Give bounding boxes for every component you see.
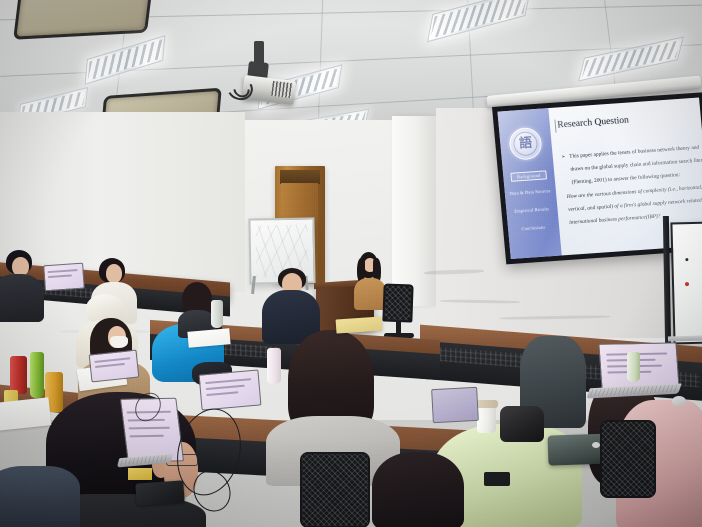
green-soda-bottle[interactable] [30, 352, 44, 398]
laptop-screen-left-row[interactable] [89, 350, 140, 383]
coffee-cup[interactable] [477, 406, 496, 433]
water-bottle[interactable] [267, 348, 281, 384]
coffee-cup-lid [475, 400, 498, 408]
slide-body-line: vertical, and spatial) of a firm's globa… [568, 197, 702, 213]
slide-nav-item-background[interactable]: Background [511, 170, 547, 181]
face-mask [110, 336, 128, 348]
wall-whiteboard [670, 222, 702, 345]
classroom-photo: 語 Background Data & Data Sources Empiric… [0, 0, 702, 527]
case-button-icon [592, 442, 600, 448]
person-student-left-front [0, 466, 80, 527]
jacket-logo-patch [484, 472, 510, 486]
emblem-glyph: 語 [519, 137, 533, 151]
laptop-screen-mid[interactable] [199, 369, 262, 410]
chair-mid [300, 452, 370, 527]
chair-right-front [600, 420, 656, 498]
student-head [106, 264, 122, 283]
projector-vent [271, 81, 293, 98]
university-emblem-icon: 語 [508, 127, 543, 161]
presenter-coat [354, 278, 386, 310]
smartphone[interactable] [135, 480, 184, 505]
person-student-dark-right-front [372, 452, 464, 527]
slide-body-line: How are the various dimensions of comple… [567, 185, 702, 200]
slide-title: Research Question [557, 116, 629, 131]
office-chair [382, 283, 413, 322]
door-header-shadow [280, 170, 320, 184]
whiteboard-marker-icon [685, 282, 689, 286]
slide-nav-item-data-sources[interactable]: Data & Data Sources [509, 188, 550, 196]
slide-nav-item-conclusions[interactable]: Conclusions [521, 225, 545, 232]
student-top [0, 466, 80, 527]
slide-body-line: (Fleming, 2001) to answer the following … [571, 172, 680, 186]
whiteboard-marker-icon [685, 258, 688, 261]
whiteboard-tray [668, 336, 702, 342]
backpack[interactable] [500, 406, 544, 442]
paper-sheet[interactable] [0, 397, 51, 430]
small-card[interactable] [128, 468, 152, 480]
thermos-bottle[interactable] [211, 300, 223, 328]
slide-bullet-icon: ➢ [561, 154, 566, 160]
slide-title-rule [554, 120, 556, 133]
laptop-screen-left-dark[interactable] [431, 387, 479, 423]
person-student-back-left [0, 250, 44, 320]
wall-column [392, 116, 436, 306]
laptop-screen-mid-left[interactable] [43, 263, 85, 292]
slide-nav-item-empirical-results[interactable]: Empirical Results [514, 206, 549, 213]
slide-body-line: international business performance(IBP)? [569, 214, 661, 226]
person-presenter [352, 252, 386, 304]
student-jacket [0, 274, 44, 322]
slide-body-line: draws on the global supply chain and inf… [570, 157, 702, 173]
thermos-bottle-green[interactable] [627, 352, 640, 382]
snack-can-red[interactable] [10, 356, 27, 394]
slide-body-line: This paper applies the tenets of busines… [569, 145, 699, 160]
wireless-mouse[interactable] [672, 396, 686, 406]
student-hair [372, 452, 464, 527]
